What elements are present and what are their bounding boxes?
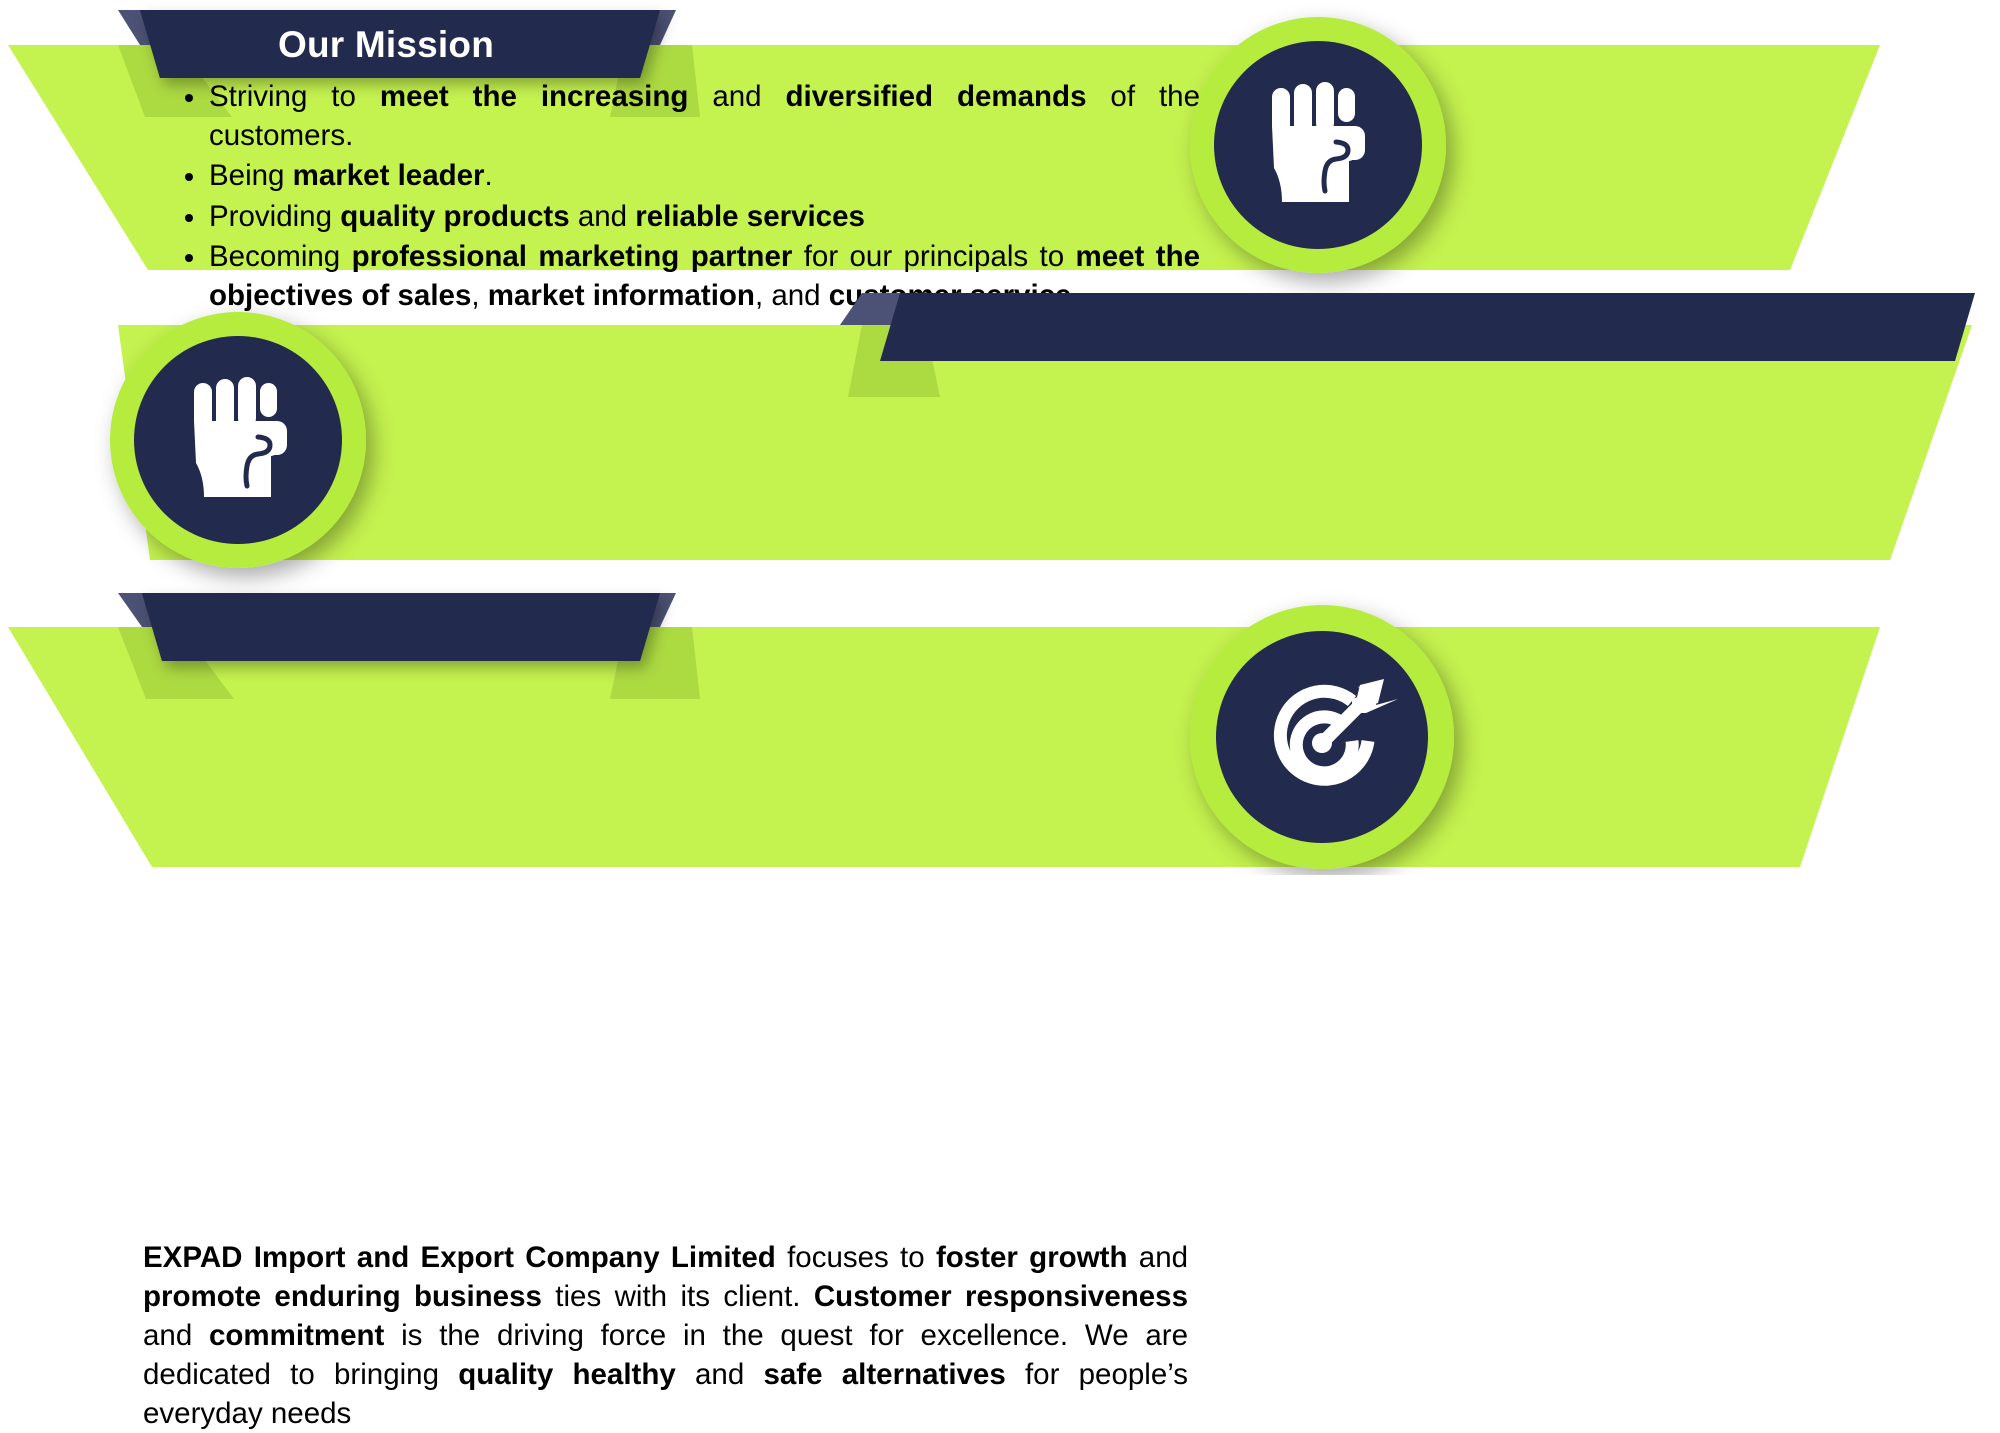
band-focus: Our Focus EXPAD Import and Export Compan… <box>0 585 2000 875</box>
fist-icon <box>180 373 300 508</box>
fist-icon <box>1258 78 1378 213</box>
target-icon <box>1248 663 1398 813</box>
bullet-item: Providing quality products and reliable … <box>175 198 1200 237</box>
bullet-item: Being market leader. <box>175 157 1200 196</box>
band-focus-shape <box>0 585 2000 875</box>
ribbon-plate <box>880 293 1975 361</box>
bullet-item: Striving to meet the increasing and dive… <box>175 78 1200 155</box>
infographic-canvas: Our Mission Striving to meet the increas… <box>0 0 2000 1111</box>
band-mission-middle: Our Mission Being the preferred supplier… <box>0 285 2000 585</box>
green-trapezoid <box>8 627 1880 867</box>
band-focus-paragraph: EXPAD Import and Export Company Limited … <box>143 1238 1188 1433</box>
band-focus-title: Our Focus <box>284 1187 471 1229</box>
ribbon-plate-body <box>142 593 660 661</box>
band-mission-top-title: Our Mission <box>278 24 494 66</box>
band-mission-top: Our Mission Striving to meet the increas… <box>0 0 2000 300</box>
